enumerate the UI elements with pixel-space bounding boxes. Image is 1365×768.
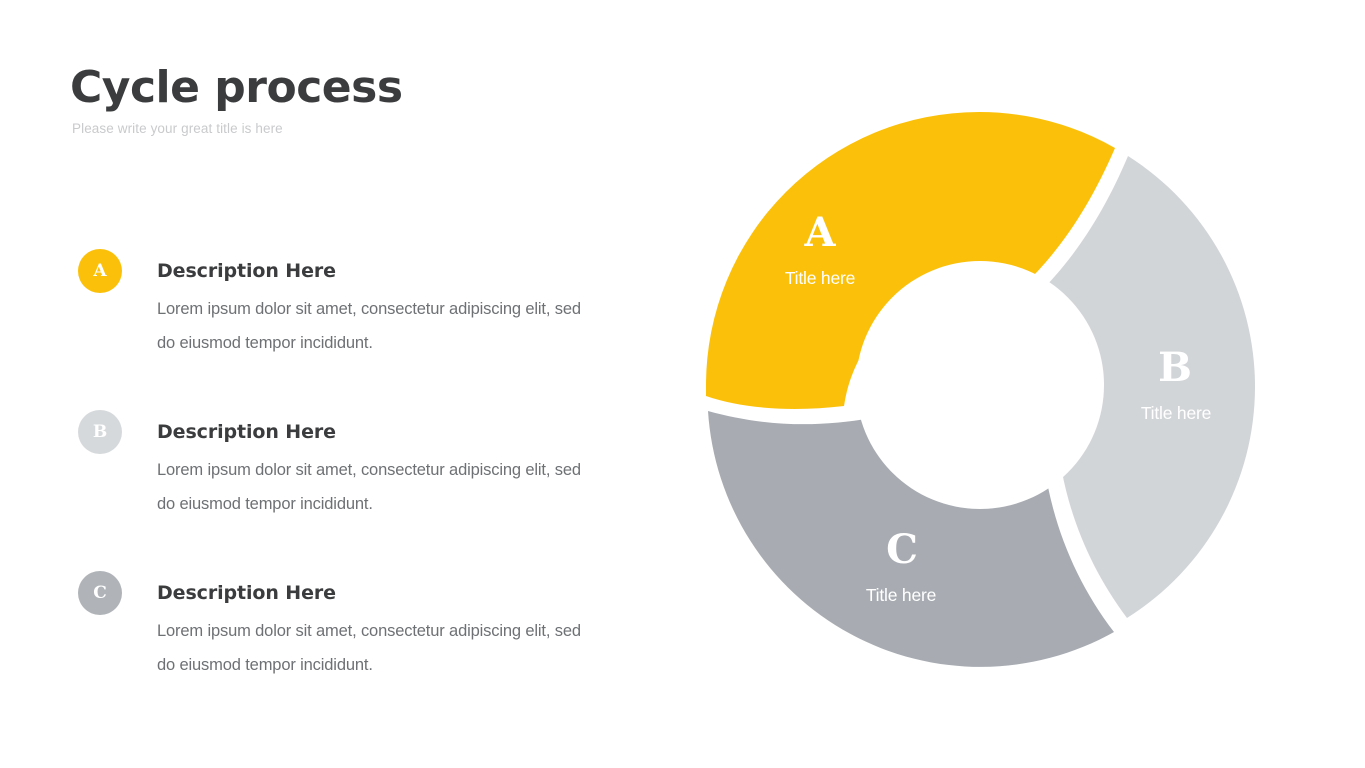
list-item-c[interactable]: C Description Here Lorem ipsum dolor sit… <box>78 571 618 711</box>
list-item-b[interactable]: B Description Here Lorem ipsum dolor sit… <box>78 410 618 550</box>
segment-label-b: B <box>1158 344 1192 391</box>
list-item-a[interactable]: A Description Here Lorem ipsum dolor sit… <box>78 249 618 389</box>
cycle-donut-chart: A Title here B Title here C Title here <box>690 96 1270 676</box>
page-title: Cycle process <box>70 62 690 114</box>
item-body-c: Lorem ipsum dolor sit amet, consectetur … <box>157 614 597 682</box>
header: Cycle process Please write your great ti… <box>70 62 690 138</box>
segment-sublabel-a: Title here <box>785 268 855 288</box>
page-subtitle: Please write your great title is here <box>72 120 690 138</box>
donut-svg: A Title here B Title here C Title here <box>690 96 1270 676</box>
item-body-a: Lorem ipsum dolor sit amet, consectetur … <box>157 292 597 360</box>
description-list: A Description Here Lorem ipsum dolor sit… <box>78 249 618 711</box>
donut-center-hole <box>856 261 1104 509</box>
segment-sublabel-b: Title here <box>1141 403 1211 423</box>
segment-label-a: A <box>803 209 836 256</box>
item-body-b: Lorem ipsum dolor sit amet, consectetur … <box>157 453 597 521</box>
badge-a: A <box>78 249 122 293</box>
item-title-a: Description Here <box>157 249 618 283</box>
badge-b: B <box>78 410 122 454</box>
segment-sublabel-c: Title here <box>866 585 936 605</box>
item-title-c: Description Here <box>157 571 618 605</box>
item-title-b: Description Here <box>157 410 618 444</box>
badge-c: C <box>78 571 122 615</box>
segment-label-c: C <box>886 526 918 573</box>
slide-canvas: Cycle process Please write your great ti… <box>0 0 1365 768</box>
